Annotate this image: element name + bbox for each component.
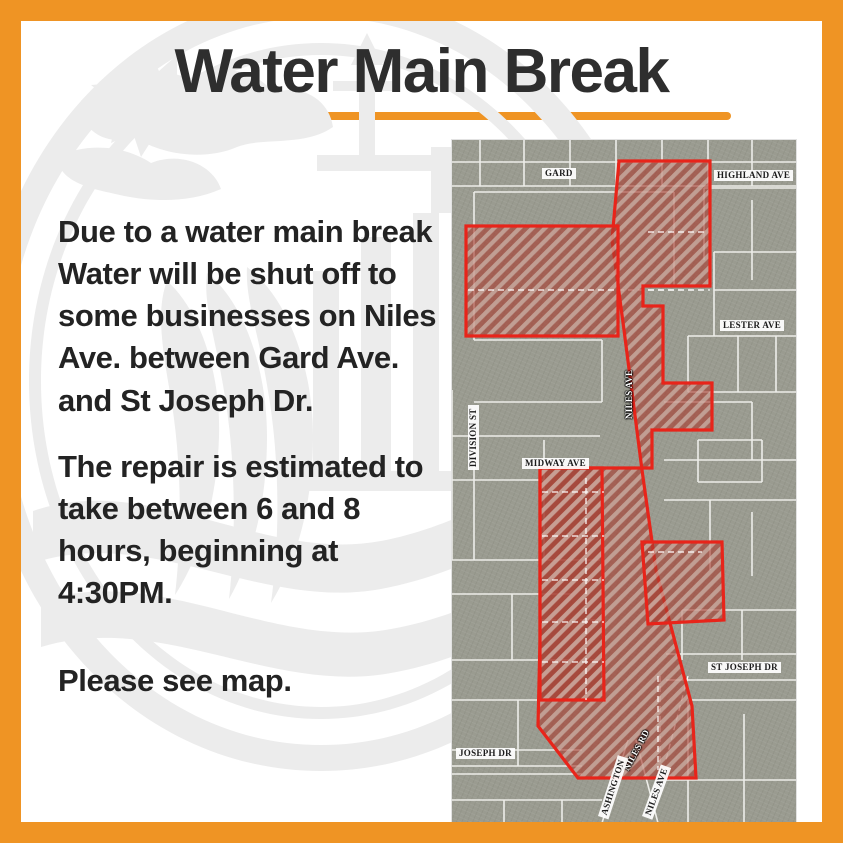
poster-canvas: Water Main Break Due to a water main bre… <box>21 21 822 822</box>
street-label-gard: GARD <box>542 168 576 179</box>
body-paragraph-3: Please see map. <box>58 660 458 702</box>
street-label-highland-ave: HIGHLAND AVE <box>714 170 793 181</box>
poster-header: Water Main Break <box>21 21 822 104</box>
street-label-division-st: DIVISION ST <box>468 405 479 470</box>
street-label-st-joseph-dr: ST JOSEPH DR <box>708 662 781 673</box>
body-paragraph-2: The repair is estimated to take between … <box>58 446 458 615</box>
title-divider <box>113 112 731 120</box>
street-label-joseph-dr: JOSEPH DR <box>456 748 515 759</box>
affected-area-map[interactable]: GARD HIGHLAND AVE LESTER AVE DIVISION ST… <box>452 140 796 822</box>
street-label-niles-ave-upper: NILES AVE <box>624 367 635 422</box>
poster: Water Main Break Due to a water main bre… <box>0 0 843 843</box>
street-label-midway-ave: MIDWAY AVE <box>522 458 589 469</box>
map-viewport[interactable]: GARD HIGHLAND AVE LESTER AVE DIVISION ST… <box>452 140 796 822</box>
affected-area-polygon <box>452 140 796 822</box>
announcement-body: Due to a water main break Water will be … <box>58 211 458 703</box>
street-label-lester-ave: LESTER AVE <box>720 320 784 331</box>
body-paragraph-1: Due to a water main break Water will be … <box>58 211 458 422</box>
page-title: Water Main Break <box>21 21 822 104</box>
